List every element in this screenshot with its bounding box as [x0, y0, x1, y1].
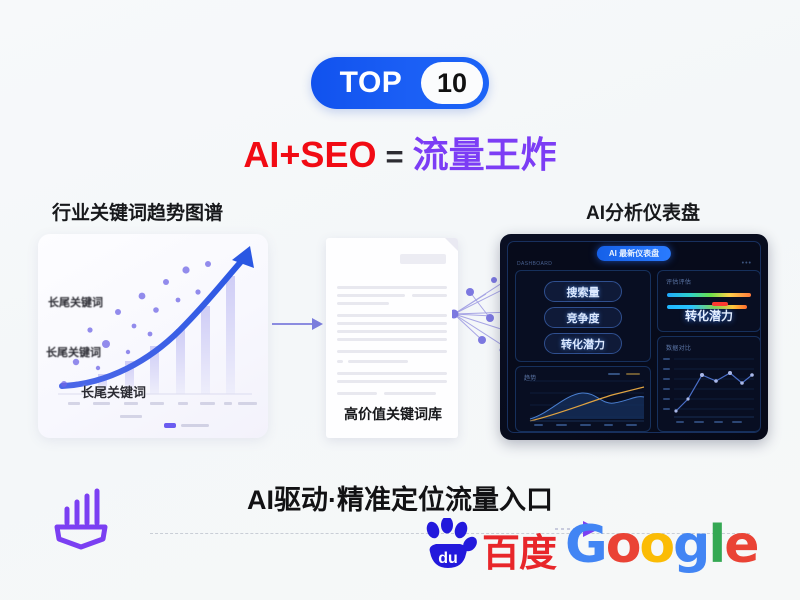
- doc-header-block: [400, 254, 446, 264]
- gauge-bar-primary: [667, 293, 751, 297]
- gauge-panel: 评估评估 转化潜力: [657, 270, 761, 332]
- chart-keyword-label: 长尾关键词: [81, 382, 146, 401]
- google-letter-o2: o: [639, 515, 673, 575]
- flow-arrow-icon: [272, 316, 324, 332]
- baidu-logo: du 百度: [420, 518, 556, 572]
- top-badge-number: 10: [421, 62, 483, 104]
- chart-keyword-label: 长尾关键词: [46, 344, 101, 360]
- keyword-trend-chart-card: 长尾关键词 长尾关键词 长尾关键词: [38, 234, 268, 438]
- gauge-marker: [712, 302, 728, 306]
- dashboard-menu-icon[interactable]: •••: [742, 260, 752, 267]
- top-rank-badge: TOP 10: [311, 57, 489, 109]
- google-letter-o1: o: [606, 515, 640, 575]
- chart-keyword-label: 长尾关键词: [48, 294, 103, 310]
- dashboard-subtitle: DASHBOARD: [517, 261, 552, 267]
- google-letter-l: l: [708, 515, 724, 575]
- metric-pill-search-volume[interactable]: 搜索量: [544, 281, 622, 302]
- top-badge-label: TOP: [311, 66, 421, 100]
- right-section-caption: AI分析仪表盘: [586, 198, 700, 225]
- headline-result: 流量王炸: [413, 134, 557, 175]
- google-logo: Google: [565, 519, 758, 571]
- ai-dashboard: AI 最新仪表盘 DASHBOARD ••• 搜索量 竞争度 转化潜力 趋势: [500, 234, 768, 440]
- baidu-paw-icon: du: [420, 518, 478, 572]
- trend-chart-graphic: [38, 234, 268, 438]
- document-label: 高价值关键词库: [328, 404, 458, 424]
- headline-ai-seo: AI+SEO: [243, 134, 376, 175]
- area-chart-title: 趋势: [524, 373, 537, 382]
- infographic-canvas: TOP 10 AI+SEO=流量王炸 行业关键词趋势图谱 AI分析仪表盘: [0, 0, 800, 600]
- google-letter-g2: g: [673, 515, 708, 575]
- headline-equals: =: [385, 139, 403, 174]
- baidu-chinese-text: 百度: [482, 536, 556, 572]
- bar-chart-pedestal-icon: [45, 485, 117, 553]
- google-letter-g1: G: [565, 515, 606, 575]
- gauge-label: 转化潜力: [658, 307, 760, 324]
- page-title: AI+SEO=流量王炸: [0, 126, 800, 178]
- line-chart-title: 数据对比: [666, 343, 691, 352]
- google-letter-e: e: [724, 515, 757, 575]
- baidu-du-text: du: [438, 550, 458, 567]
- metric-pill-competition[interactable]: 竞争度: [544, 307, 622, 328]
- gauge-panel-title: 评估评估: [666, 277, 691, 286]
- metrics-panel: 搜索量 竞争度 转化潜力: [515, 270, 651, 362]
- dashboard-screen: AI 最新仪表盘 DASHBOARD ••• 搜索量 竞争度 转化潜力 趋势: [507, 241, 761, 433]
- line-chart-panel: 数据对比: [657, 336, 761, 432]
- metric-pill-conversion[interactable]: 转化潜力: [544, 333, 622, 354]
- dashboard-title-badge: AI 最新仪表盘: [597, 246, 671, 261]
- area-chart-panel: 趋势: [515, 366, 651, 432]
- left-section-caption: 行业关键词趋势图谱: [52, 198, 223, 225]
- footer-tagline: AI驱动·精准定位流量入口: [0, 478, 800, 517]
